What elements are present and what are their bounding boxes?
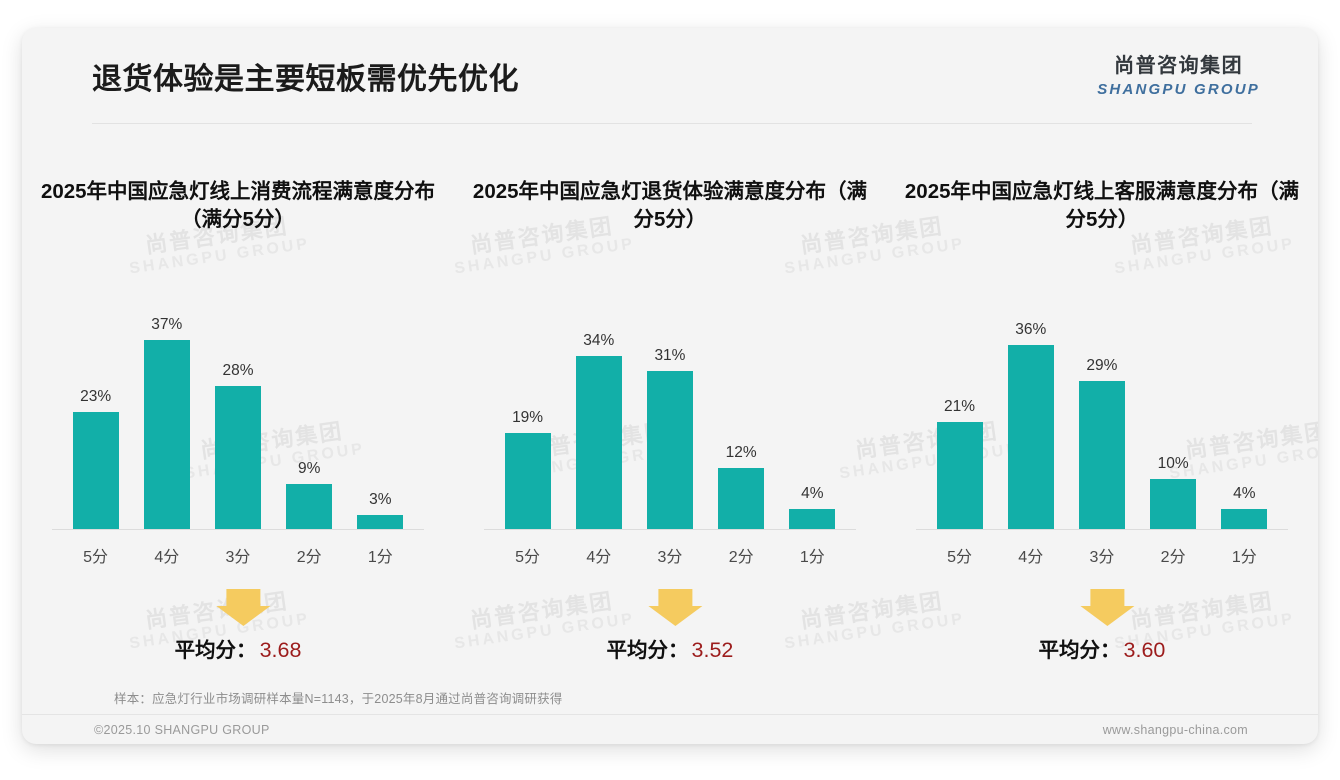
bar-slot: 10% <box>1141 280 1205 530</box>
bar-value-label: 21% <box>944 398 975 416</box>
bar-slot: 23% <box>64 280 128 530</box>
charts-row: 2025年中国应急灯线上消费流程满意度分布（满分5分）23%37%28%9%3%… <box>22 178 1318 675</box>
bar <box>1150 479 1196 530</box>
bar-value-label: 31% <box>654 347 685 365</box>
x-axis-line <box>916 529 1288 530</box>
website-link[interactable]: www.shangpu-china.com <box>1103 723 1248 737</box>
x-axis-tick-label: 1分 <box>348 543 412 567</box>
average-score-text: 平均分：3.52 <box>454 633 886 663</box>
bar <box>718 468 764 530</box>
bar <box>789 509 835 530</box>
bar-slot: 9% <box>277 280 341 530</box>
bar-slot: 12% <box>709 280 773 530</box>
bar-slot: 31% <box>638 280 702 530</box>
bar-value-label: 4% <box>801 485 823 503</box>
footnote: 样本：应急灯行业市场调研样本量N=1143，于2025年8月通过尚普咨询调研获得 <box>114 688 562 707</box>
down-arrow-icon <box>1080 589 1134 625</box>
bar <box>357 515 403 530</box>
average-score-text: 平均分：3.60 <box>886 633 1318 663</box>
x-axis-tick-label: 5分 <box>928 543 992 567</box>
average-score-block: 平均分：3.52 <box>454 589 886 675</box>
copyright-text: ©2025.10 SHANGPU GROUP <box>94 723 270 737</box>
bar-slot: 21% <box>928 280 992 530</box>
logo-chinese-text: 尚普咨询集团 <box>1097 56 1260 76</box>
average-score-value: 3.60 <box>1124 638 1166 662</box>
header-divider <box>92 123 1252 124</box>
average-score-block: 平均分：3.68 <box>22 589 454 675</box>
bar-slot: 4% <box>780 280 844 530</box>
bar-value-label: 23% <box>80 388 111 406</box>
bar-slot: 3% <box>348 280 412 530</box>
chart-title: 2025年中国应急灯线上客服满意度分布（满分5分） <box>886 178 1318 238</box>
down-arrow-icon <box>216 589 270 625</box>
x-axis-line <box>484 529 856 530</box>
bar-value-label: 4% <box>1233 485 1255 503</box>
x-axis-tick-label: 5分 <box>64 543 128 567</box>
average-score-label: 平均分： <box>607 639 689 662</box>
bar-value-label: 10% <box>1158 455 1189 473</box>
bar <box>505 433 551 530</box>
bar <box>286 484 332 530</box>
x-axis-tick-label: 2分 <box>709 543 773 567</box>
x-axis-line <box>52 529 424 530</box>
bar-slot: 19% <box>496 280 560 530</box>
bar <box>215 386 261 530</box>
average-score-label: 平均分： <box>175 639 257 662</box>
chart-panel: 2025年中国应急灯退货体验满意度分布（满分5分）19%34%31%12%4%5… <box>454 178 886 675</box>
bar-value-label: 29% <box>1086 357 1117 375</box>
bar-value-label: 37% <box>151 316 182 334</box>
chart-panel: 2025年中国应急灯线上客服满意度分布（满分5分）21%36%29%10%4%5… <box>886 178 1318 675</box>
bar-slot: 34% <box>567 280 631 530</box>
brand-logo: 尚普咨询集团 SHANGPU GROUP <box>1097 56 1260 97</box>
x-axis-tick-label: 4分 <box>567 543 631 567</box>
bar-slot: 28% <box>206 280 270 530</box>
bar <box>647 371 693 530</box>
chart-title: 2025年中国应急灯退货体验满意度分布（满分5分） <box>454 178 886 238</box>
bar-value-label: 9% <box>298 460 320 478</box>
x-axis-tick-label: 5分 <box>496 543 560 567</box>
x-axis-tick-label: 2分 <box>277 543 341 567</box>
slide-footer: ©2025.10 SHANGPU GROUP www.shangpu-china… <box>22 714 1318 744</box>
bar-slot: 4% <box>1212 280 1276 530</box>
page-title: 退货体验是主要短板需优先优化 <box>92 54 519 98</box>
x-axis-tick-label: 3分 <box>206 543 270 567</box>
average-score-value: 3.52 <box>692 638 734 662</box>
bar <box>576 356 622 530</box>
bar-slot: 37% <box>135 280 199 530</box>
bar <box>1221 509 1267 530</box>
x-axis-tick-label: 1分 <box>780 543 844 567</box>
bar-slot: 36% <box>999 280 1063 530</box>
x-axis-tick-labels: 5分4分3分2分1分 <box>924 530 1280 567</box>
average-score-label: 平均分： <box>1039 639 1121 662</box>
bar-value-label: 12% <box>726 444 757 462</box>
bar <box>1008 345 1054 530</box>
bar <box>144 340 190 530</box>
bar <box>73 412 119 530</box>
chart-title: 2025年中国应急灯线上消费流程满意度分布（满分5分） <box>22 178 454 238</box>
x-axis-tick-label: 3分 <box>638 543 702 567</box>
x-axis-tick-labels: 5分4分3分2分1分 <box>492 530 848 567</box>
average-score-value: 3.68 <box>260 638 302 662</box>
bar-value-label: 36% <box>1015 321 1046 339</box>
slide-card: 退货体验是主要短板需优先优化 尚普咨询集团 SHANGPU GROUP 尚普咨询… <box>22 28 1318 744</box>
bar-group: 23%37%28%9%3% <box>60 280 416 530</box>
chart-plot-area: 23%37%28%9%3% <box>60 280 416 530</box>
bar-value-label: 28% <box>222 362 253 380</box>
chart-plot-area: 19%34%31%12%4% <box>492 280 848 530</box>
bar-group: 21%36%29%10%4% <box>924 280 1280 530</box>
bar <box>1079 381 1125 530</box>
x-axis-tick-labels: 5分4分3分2分1分 <box>60 530 416 567</box>
average-score-block: 平均分：3.60 <box>886 589 1318 675</box>
bar-value-label: 34% <box>583 332 614 350</box>
x-axis-tick-label: 2分 <box>1141 543 1205 567</box>
bar-value-label: 3% <box>369 491 391 509</box>
down-arrow-icon <box>648 589 702 625</box>
x-axis-tick-label: 1分 <box>1212 543 1276 567</box>
logo-english-text: SHANGPU GROUP <box>1097 82 1260 97</box>
x-axis-tick-label: 4分 <box>999 543 1063 567</box>
chart-plot-area: 21%36%29%10%4% <box>924 280 1280 530</box>
x-axis-tick-label: 4分 <box>135 543 199 567</box>
bar <box>937 422 983 530</box>
slide-header: 退货体验是主要短板需优先优化 尚普咨询集团 SHANGPU GROUP <box>22 28 1318 124</box>
bar-group: 19%34%31%12%4% <box>492 280 848 530</box>
bar-slot: 29% <box>1070 280 1134 530</box>
bar-value-label: 19% <box>512 409 543 427</box>
average-score-text: 平均分：3.68 <box>22 633 454 663</box>
x-axis-tick-label: 3分 <box>1070 543 1134 567</box>
chart-panel: 2025年中国应急灯线上消费流程满意度分布（满分5分）23%37%28%9%3%… <box>22 178 454 675</box>
